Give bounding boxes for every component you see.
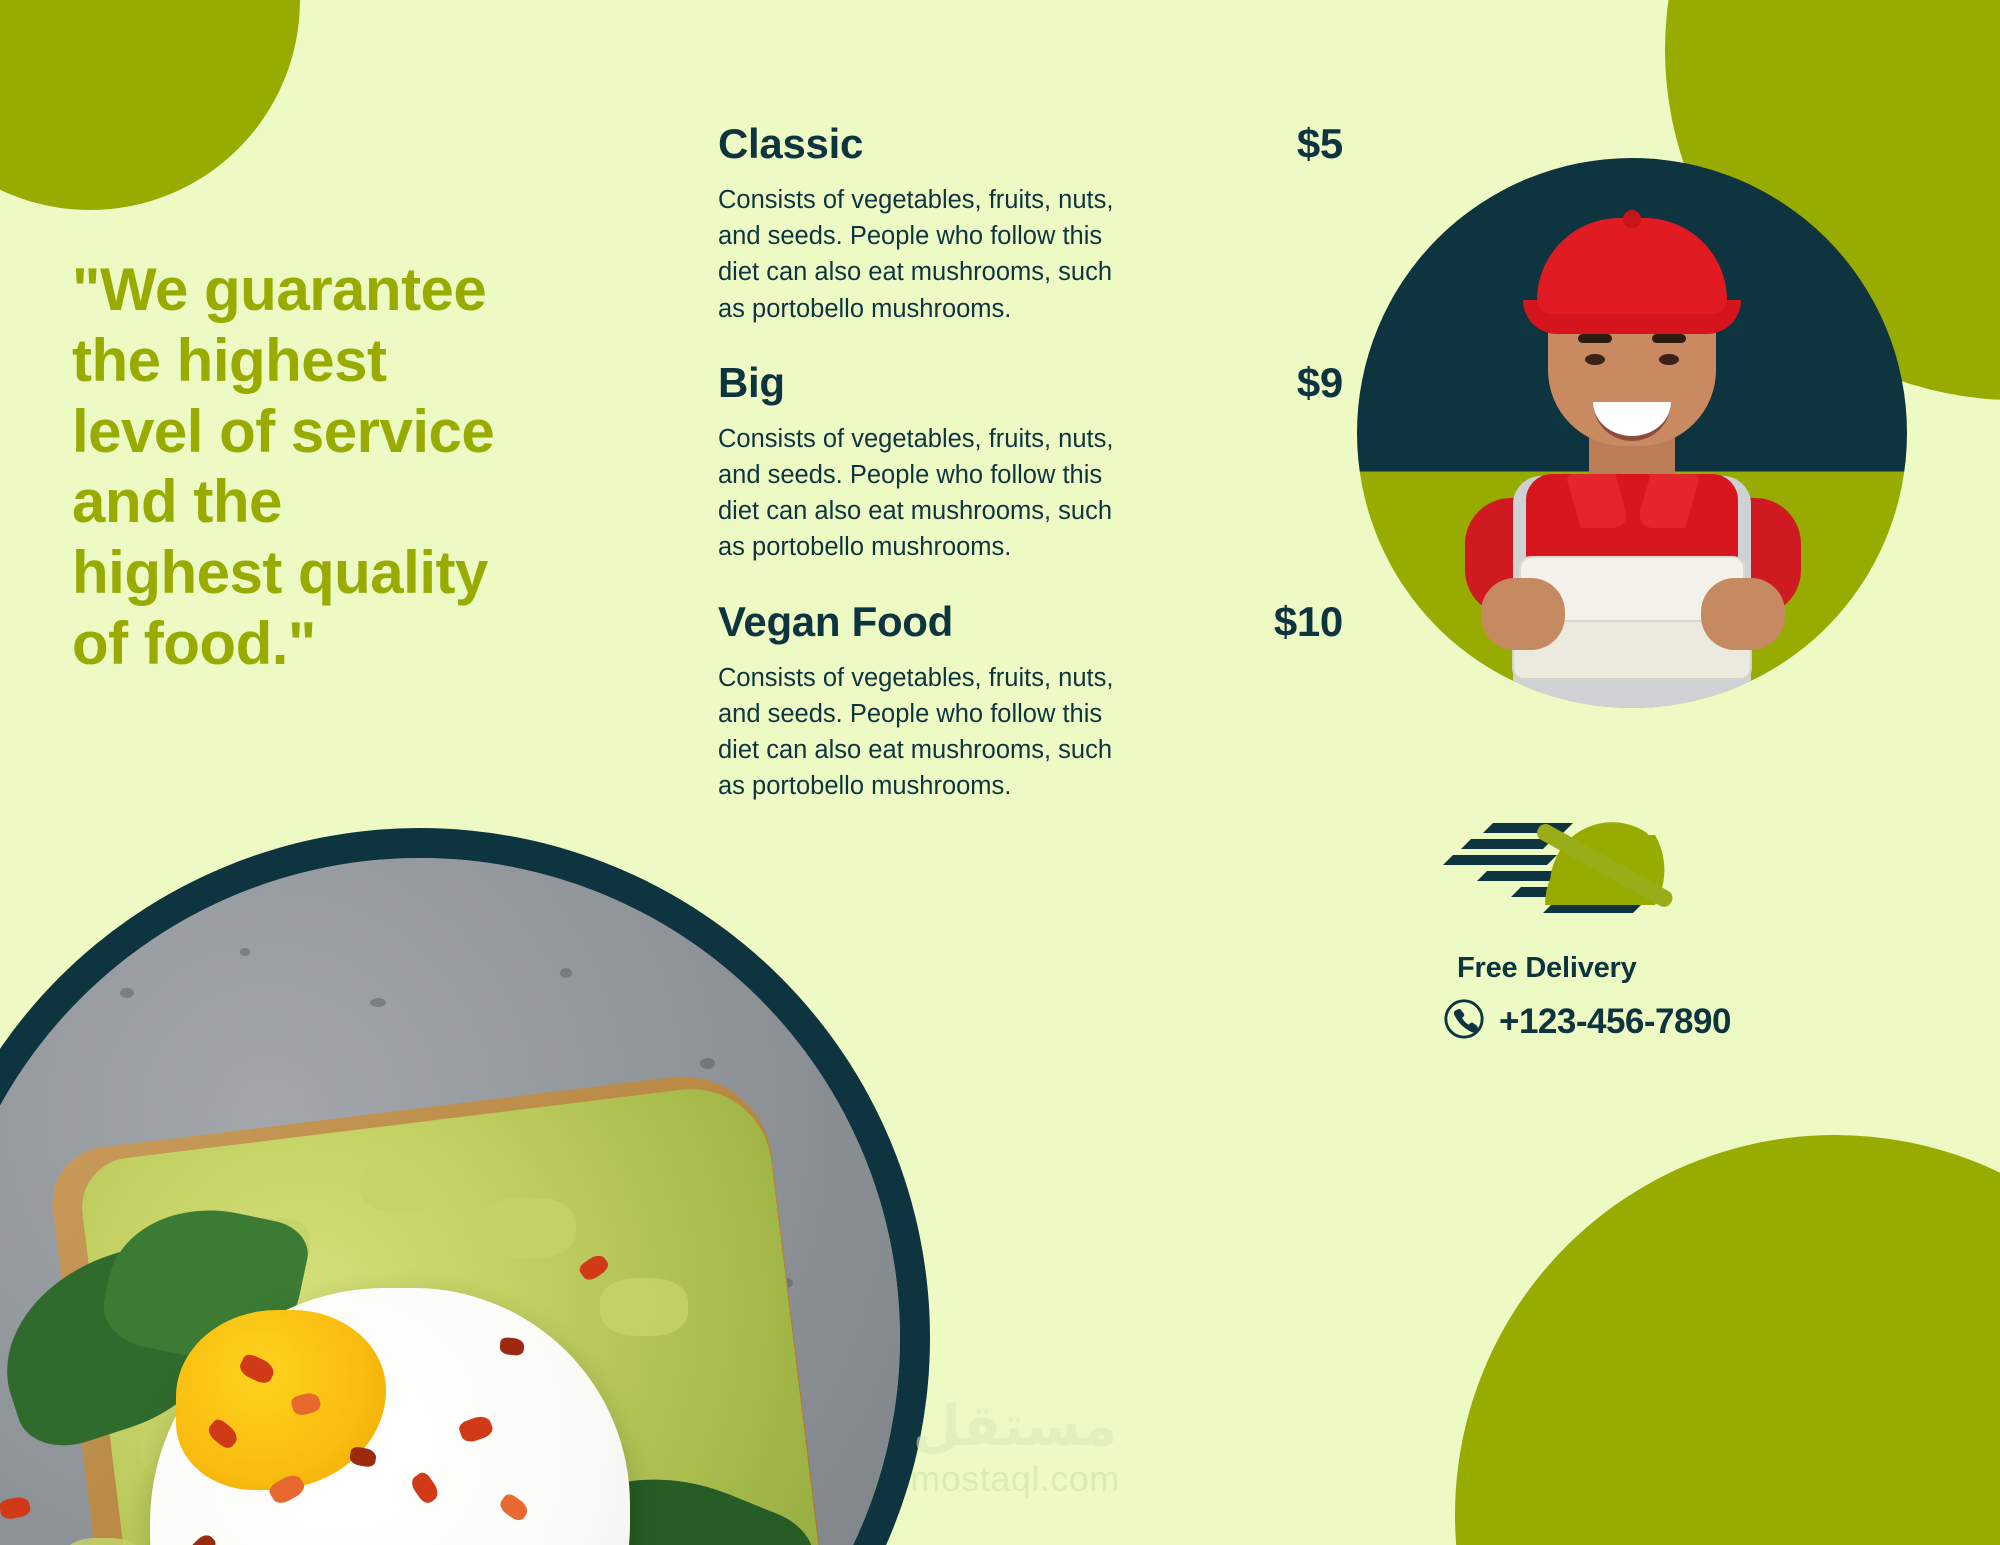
courier-eye-right xyxy=(1659,354,1679,365)
menu-item-description: Consists of vegetables, fruits, nuts, an… xyxy=(718,421,1248,566)
plate-speck xyxy=(120,988,134,998)
food-photo xyxy=(0,858,900,1545)
courier-hand-left xyxy=(1481,578,1565,650)
free-delivery-label: Free Delivery xyxy=(1457,952,1637,985)
menu-item-name: Classic xyxy=(718,120,863,168)
menu-item-price: $10 xyxy=(1274,598,1343,646)
plate-speck xyxy=(560,968,572,978)
courier-brow-left xyxy=(1578,334,1612,343)
headline-quote-text: "We guarantee the highest level of servi… xyxy=(72,255,662,680)
decorative-circle-bottom-right xyxy=(1455,1135,2000,1545)
food-cloche-speed-lines-icon xyxy=(1425,805,1715,935)
menu-item-vegan-food[interactable]: Vegan Food $10 Consists of vegetables, f… xyxy=(718,598,1343,805)
avocado-chunk xyxy=(600,1278,688,1336)
avocado-chunk xyxy=(360,1158,440,1212)
courier-red-cap xyxy=(1537,218,1727,314)
avocado-chunk xyxy=(480,1198,576,1258)
menu-item-header: Classic $5 xyxy=(718,120,1343,168)
phone-number: +123-456-7890 xyxy=(1499,1002,1731,1042)
courier-hand-right xyxy=(1701,578,1785,650)
menu-item-classic[interactable]: Classic $5 Consists of vegetables, fruit… xyxy=(718,120,1343,327)
menu-item-big[interactable]: Big $9 Consists of vegetables, fruits, n… xyxy=(718,359,1343,566)
phone-row[interactable]: +123-456-7890 xyxy=(1443,998,1731,1045)
menu-item-name: Big xyxy=(718,359,785,407)
food-menu-poster: "We guarantee the highest level of servi… xyxy=(0,0,2000,1545)
menu-item-description: Consists of vegetables, fruits, nuts, an… xyxy=(718,660,1248,805)
plate-speck xyxy=(240,948,250,956)
food-photo-ring xyxy=(0,828,930,1545)
menu-list: Classic $5 Consists of vegetables, fruit… xyxy=(718,120,1343,804)
courier-eye-left xyxy=(1585,354,1605,365)
menu-item-header: Vegan Food $10 xyxy=(718,598,1343,646)
plate-speck xyxy=(700,1058,715,1069)
watermark-latin-text: mostaql.com xyxy=(880,1458,1150,1500)
courier-brow-right xyxy=(1652,334,1686,343)
phone-handset-icon xyxy=(1443,998,1485,1045)
courier-photo xyxy=(1357,158,1907,708)
decorative-circle-top-left xyxy=(0,0,300,210)
courier-cap-button xyxy=(1623,210,1641,228)
menu-item-price: $9 xyxy=(1297,359,1343,407)
menu-item-description: Consists of vegetables, fruits, nuts, an… xyxy=(718,182,1248,327)
plate-speck xyxy=(370,998,386,1007)
menu-item-price: $5 xyxy=(1297,120,1343,168)
chili-flake xyxy=(499,1337,524,1356)
headline-quote-block: "We guarantee the highest level of servi… xyxy=(72,255,662,680)
menu-item-header: Big $9 xyxy=(718,359,1343,407)
menu-item-name: Vegan Food xyxy=(718,598,953,646)
